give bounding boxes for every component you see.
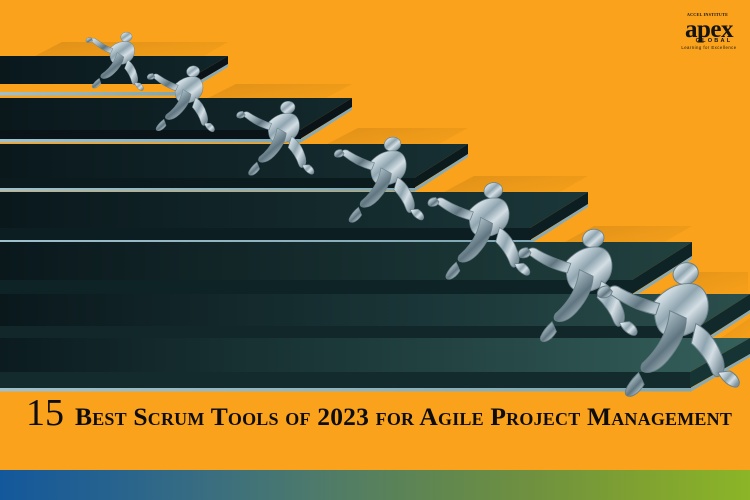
apex-global-logo: ACCEL INSTITUTE apex GLOBAL Learning for… (676, 4, 742, 50)
title-number: 15 (26, 394, 64, 432)
title-text: Best Scrum Tools of 2023 for Agile Proje… (75, 404, 732, 430)
step-2 (0, 98, 352, 143)
logo-tagline: Learning for Excellence (676, 46, 742, 50)
banner-title: 15 Best Scrum Tools of 2023 for Agile Pr… (26, 394, 732, 432)
gradient-bar (0, 470, 750, 500)
staircase-illustration (0, 0, 750, 410)
banner-root: ACCEL INSTITUTE apex GLOBAL Learning for… (0, 0, 750, 500)
artwork-area: ACCEL INSTITUTE apex GLOBAL Learning for… (0, 0, 750, 470)
